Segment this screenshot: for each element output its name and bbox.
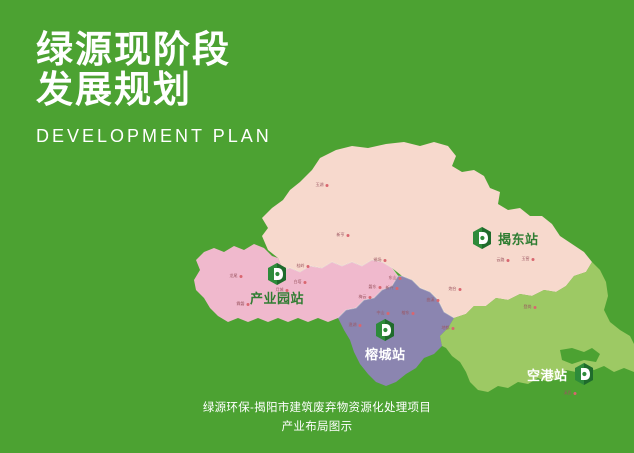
city-name: 榕东 (402, 310, 410, 316)
city-dot-icon (437, 299, 440, 302)
subtitle: DEVELOPMENT PLAN (36, 126, 366, 147)
city-dot-label: 锡场 (374, 257, 387, 263)
city-dot-label: 磐东 (369, 284, 382, 290)
caption-line-1: 绿源环保-揭阳市建筑废弃物资源化处理项目 (0, 399, 634, 418)
caption-line-2: 产业布局图示 (0, 418, 634, 437)
title-line-2: 发展规划 (36, 70, 366, 110)
city-dot-icon (534, 306, 537, 309)
city-name: 霖磐 (237, 301, 245, 307)
city-dot-icon (574, 392, 577, 395)
city-name: 新兴 (386, 285, 394, 291)
city-name: 新亨 (337, 232, 345, 238)
poster-root: 绿源现阶段 发展规划 DEVELOPMENT PLAN 玉湖新亨锡场云路玉窖桂岭… (0, 0, 634, 453)
city-dot-label: 中山 (377, 310, 390, 316)
city-dot-label: 玉湖 (316, 182, 329, 188)
city-name: 玉湖 (316, 182, 324, 188)
city-dot-label: 新亨 (337, 232, 350, 238)
city-name: 磐东 (369, 284, 377, 290)
city-name: 中山 (377, 310, 385, 316)
station-marker-chanyeyuan[interactable]: 产业园站 (250, 262, 304, 307)
city-name: 炮台 (449, 286, 457, 292)
city-name: 玉窖 (522, 256, 530, 262)
city-dot-icon (326, 184, 329, 187)
city-name: 渔湖 (349, 322, 357, 328)
city-dot-icon (387, 312, 390, 315)
city-name: 溪西 (564, 390, 572, 396)
title-line-1: 绿源现阶段 (36, 30, 366, 70)
city-dot-icon (379, 286, 382, 289)
green-hexagon-logo-icon (574, 362, 594, 386)
city-name: 登岗 (524, 304, 532, 310)
city-dot-icon (369, 296, 372, 299)
city-dot-label: 新兴 (386, 285, 399, 291)
city-dot-label: 梅云 (359, 294, 372, 300)
city-dot-icon (507, 259, 510, 262)
station-label-chanyeyuan: 产业园站 (250, 288, 304, 307)
city-dot-label: 玉窖 (522, 256, 535, 262)
city-dot-label: 登岗 (524, 304, 537, 310)
green-hexagon-logo-icon (375, 318, 395, 342)
city-dot-label: 榕东 (402, 310, 415, 316)
station-label-rongcheng: 榕城站 (365, 344, 406, 363)
city-dot-icon (347, 234, 350, 237)
city-dot-icon (452, 327, 455, 330)
station-marker-jiedong[interactable]: 揭东站 (472, 226, 539, 250)
city-dot-label: 曲溪 (427, 297, 440, 303)
city-dot-label: 溪西 (564, 390, 577, 396)
city-name: 云路 (497, 257, 505, 263)
station-label-jiedong: 揭东站 (498, 229, 539, 248)
city-name: 锡场 (374, 257, 382, 263)
city-dot-icon (532, 258, 535, 261)
city-name: 曲溪 (427, 297, 435, 303)
station-marker-konggang[interactable]: 空港站 (527, 362, 594, 386)
green-hexagon-logo-icon (472, 226, 492, 250)
city-dot-icon (412, 312, 415, 315)
city-dot-icon (396, 287, 399, 290)
caption-block: 绿源环保-揭阳市建筑废弃物资源化处理项目 产业布局图示 (0, 399, 634, 437)
city-dot-icon (399, 277, 402, 280)
city-dot-label: 炮台 (449, 286, 462, 292)
station-label-konggang: 空港站 (527, 365, 568, 384)
city-dot-label: 云路 (497, 257, 510, 263)
green-hexagon-logo-icon (267, 262, 287, 286)
city-dot-icon (459, 288, 462, 291)
station-marker-rongcheng[interactable]: 榕城站 (365, 318, 406, 363)
city-dot-label: 渔湖 (349, 322, 362, 328)
city-dot-icon (359, 324, 362, 327)
city-dot-icon (307, 265, 310, 268)
city-dot-label: 龙尾 (230, 273, 243, 279)
city-name: 龙尾 (230, 273, 238, 279)
city-name: 地都 (442, 325, 450, 331)
city-dot-label: 东山 (389, 275, 402, 281)
city-dot-label: 地都 (442, 325, 455, 331)
title-block: 绿源现阶段 发展规划 DEVELOPMENT PLAN (36, 30, 366, 147)
city-dot-icon (384, 259, 387, 262)
city-name: 东山 (389, 275, 397, 281)
city-dot-label: 霖磐 (237, 301, 250, 307)
city-name: 梅云 (359, 294, 367, 300)
city-dot-icon (240, 275, 243, 278)
